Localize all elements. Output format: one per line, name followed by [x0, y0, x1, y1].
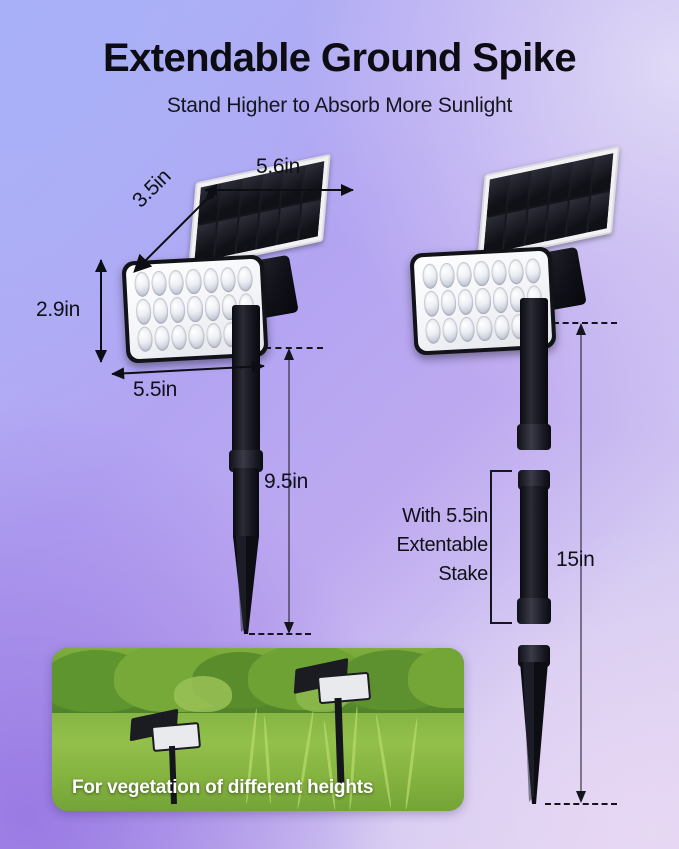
led [490, 260, 506, 286]
lifestyle-photo: For vegetation of different heights [52, 648, 464, 811]
spike-tip-shape-right [520, 662, 548, 804]
pole-right [520, 298, 548, 430]
led [492, 287, 508, 313]
photo-lamp-tall-pole [335, 698, 345, 784]
dimension-label-head-height: 2.9in [36, 298, 80, 322]
led [442, 317, 458, 343]
led [204, 295, 220, 321]
led [459, 316, 475, 342]
extension-note: With 5.5in Extentable Stake [360, 505, 488, 586]
led [473, 261, 489, 287]
spike-tip-shape-left [233, 536, 259, 634]
led [458, 289, 474, 315]
led [135, 299, 151, 325]
extension-note-line2: Extentable [360, 534, 488, 557]
dimension-arrow-head-height [94, 260, 108, 362]
solar-cell [487, 175, 509, 215]
led [170, 297, 186, 323]
led [525, 258, 541, 284]
photo-lamp-tall [290, 662, 378, 792]
dimension-label-tall-height: 15in [556, 548, 595, 572]
solar-cell [588, 192, 610, 232]
lamp-retracted: 5.6in 3.5in 2.9in [0, 0, 400, 660]
solar-cell [278, 204, 300, 244]
solar-cell [570, 158, 592, 198]
hedge-shrub-light [174, 676, 232, 712]
extension-note-line3: Stake [360, 563, 488, 586]
led [493, 314, 509, 340]
dimension-label-head-width: 5.5in [133, 378, 177, 402]
solar-cell [236, 213, 258, 253]
photo-lamp-short-head [151, 722, 201, 752]
photo-lamp-tall-head [317, 672, 371, 704]
pole-left [232, 305, 260, 455]
solar-cell [549, 162, 571, 202]
led [508, 259, 524, 285]
led [153, 298, 169, 324]
dimension-guide-bottom-left [249, 633, 311, 635]
led [439, 262, 455, 288]
infographic-page: Extendable Ground Spike Stand Higher to … [0, 0, 679, 849]
solar-cell [215, 218, 237, 258]
spike-tip-right [520, 662, 548, 804]
led [441, 290, 457, 316]
solar-cells-right [483, 153, 613, 254]
dimension-label-panel-width: 5.6in [256, 155, 300, 179]
extension-note-line1: With 5.5in [360, 505, 488, 528]
solar-cell [591, 153, 613, 193]
led [422, 263, 438, 289]
extension-bottom-collar [517, 598, 551, 624]
solar-cell [299, 200, 321, 240]
pole-collar-right [517, 424, 551, 450]
led [137, 326, 153, 352]
solar-cell [546, 201, 568, 241]
led [423, 291, 439, 317]
solar-cell [257, 209, 279, 249]
led [475, 288, 491, 314]
led [425, 318, 441, 344]
solar-cell [525, 205, 547, 245]
solar-cell [529, 167, 551, 207]
solar-panel-right [477, 146, 620, 262]
extension-bracket [490, 470, 512, 624]
dimension-arrow-panel-width [205, 183, 353, 197]
photo-caption: For vegetation of different heights [72, 777, 373, 799]
led [237, 266, 253, 292]
extension-tube [520, 486, 548, 606]
led [154, 325, 170, 351]
solar-cell [567, 196, 589, 236]
dimension-label-short-height: 9.5in [264, 470, 308, 494]
led [188, 323, 204, 349]
spike-shaft-left [233, 468, 259, 540]
spike-tip-left [233, 536, 259, 634]
led [171, 324, 187, 350]
led [205, 322, 221, 348]
led [456, 262, 472, 288]
solar-cell [504, 210, 526, 250]
solar-cell [508, 171, 530, 211]
led [476, 315, 492, 341]
led [187, 296, 203, 322]
dimension-guide-bottom-right [545, 803, 617, 805]
led [220, 267, 236, 293]
